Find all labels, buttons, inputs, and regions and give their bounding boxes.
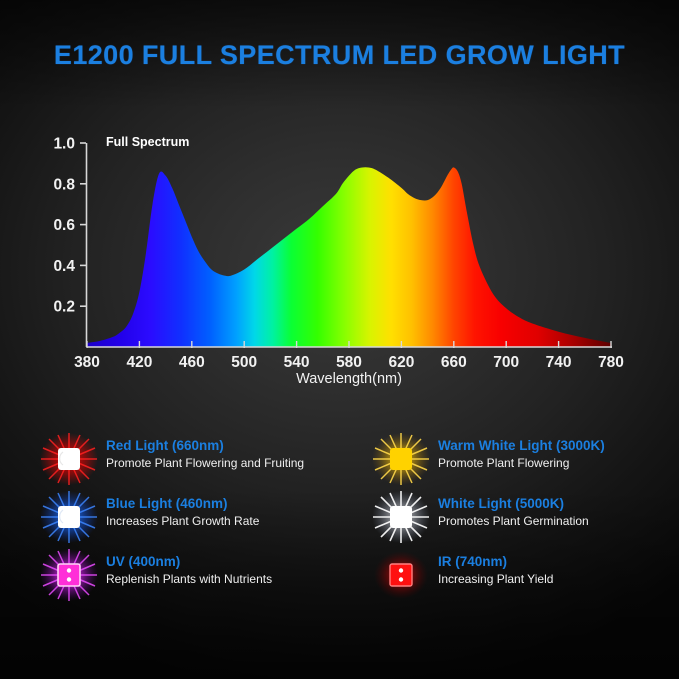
red-led-chip-icon xyxy=(38,432,100,486)
chart-x-tick-label: 660 xyxy=(441,354,467,371)
chart-y-tick-label: 0.2 xyxy=(53,299,75,316)
chart-y-tick-label: 1.0 xyxy=(53,136,75,153)
ir-led-chip-icon xyxy=(370,548,432,602)
legend-description: Promote Plant Flowering xyxy=(438,455,605,471)
legend-item-uv-light[interactable]: UV (400nm) Replenish Plants with Nutrien… xyxy=(38,548,358,602)
legend-title: Red Light (660nm) xyxy=(106,438,304,454)
chart-y-ticks: 0.20.40.60.81.0 xyxy=(53,136,86,316)
legend-text-ir-light: IR (740nm) Increasing Plant Yield xyxy=(438,554,553,587)
led-legend: Red Light (660nm) Promote Plant Flowerin… xyxy=(0,432,679,622)
chart-x-tick-label: 780 xyxy=(598,354,624,371)
legend-description: Replenish Plants with Nutrients xyxy=(106,571,272,587)
chart-x-tick-label: 580 xyxy=(336,354,362,371)
chart-x-tick-label: 420 xyxy=(126,354,152,371)
chart-x-tick-label: 460 xyxy=(179,354,205,371)
chart-x-axis-title: Wavelength(nm) xyxy=(296,371,402,387)
spectrum-area-fill xyxy=(87,167,611,347)
legend-description: Increases Plant Growth Rate xyxy=(106,513,259,529)
legend-item-red-light[interactable]: Red Light (660nm) Promote Plant Flowerin… xyxy=(38,432,358,486)
legend-title: Blue Light (460nm) xyxy=(106,496,259,512)
chart-x-tick-label: 500 xyxy=(231,354,257,371)
legend-item-warm-white-light[interactable]: Warm White Light (3000K) Promote Plant F… xyxy=(370,432,679,486)
led-legend-left-column: Red Light (660nm) Promote Plant Flowerin… xyxy=(38,432,358,606)
legend-item-white-light[interactable]: White Light (5000K) Promotes Plant Germi… xyxy=(370,490,679,544)
chart-y-tick-label: 0.8 xyxy=(53,176,75,193)
legend-text-red-light: Red Light (660nm) Promote Plant Flowerin… xyxy=(106,438,304,471)
blue-led-chip-icon xyxy=(38,490,100,544)
chart-x-tick-label: 620 xyxy=(388,354,414,371)
chart-x-tick-label: 380 xyxy=(74,354,100,371)
uv-led-chip-icon xyxy=(38,548,100,602)
legend-description: Increasing Plant Yield xyxy=(438,571,553,587)
white-led-chip-icon xyxy=(370,490,432,544)
legend-item-ir-light[interactable]: IR (740nm) Increasing Plant Yield xyxy=(370,548,679,602)
legend-text-white-light: White Light (5000K) Promotes Plant Germi… xyxy=(438,496,589,529)
chart-y-tick-label: 0.4 xyxy=(53,258,75,275)
legend-text-warm-white-light: Warm White Light (3000K) Promote Plant F… xyxy=(438,438,605,471)
legend-description: Promotes Plant Germination xyxy=(438,513,589,529)
legend-text-uv-light: UV (400nm) Replenish Plants with Nutrien… xyxy=(106,554,272,587)
chart-y-tick-label: 0.6 xyxy=(53,217,75,234)
chart-x-tick-label: 700 xyxy=(493,354,519,371)
warm-white-led-chip-icon xyxy=(370,432,432,486)
legend-description: Promote Plant Flowering and Fruiting xyxy=(106,455,304,471)
legend-item-blue-light[interactable]: Blue Light (460nm) Increases Plant Growt… xyxy=(38,490,358,544)
legend-title: UV (400nm) xyxy=(106,554,272,570)
legend-title: Warm White Light (3000K) xyxy=(438,438,605,454)
legend-title: White Light (5000K) xyxy=(438,496,589,512)
legend-title: IR (740nm) xyxy=(438,554,553,570)
legend-text-blue-light: Blue Light (460nm) Increases Plant Growt… xyxy=(106,496,259,529)
chart-x-tick-label: 740 xyxy=(546,354,572,371)
led-legend-right-column: Warm White Light (3000K) Promote Plant F… xyxy=(370,432,679,606)
chart-x-tick-label: 540 xyxy=(284,354,310,371)
chart-series-label: Full Spectrum xyxy=(106,135,189,149)
product-spectrum-infographic: E1200 FULL SPECTRUM LED GROW LIGHT xyxy=(0,0,679,679)
